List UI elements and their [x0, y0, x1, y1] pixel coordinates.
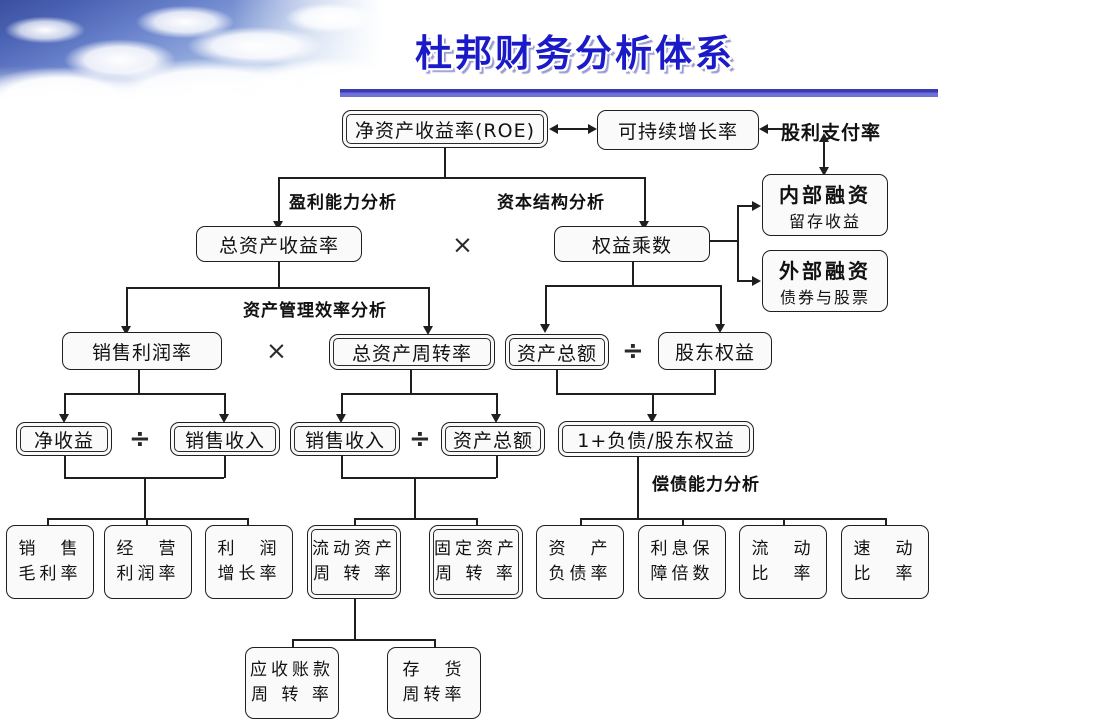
node-current-asset-turnover-line1: 流动资产 [312, 537, 396, 562]
node-equity-multiplier-label: 权益乘数 [592, 231, 672, 258]
sky-fade-overlay [0, 84, 402, 110]
node-roe[interactable]: 净资产收益率(ROE) [342, 110, 548, 148]
connector-bus-to-tat [428, 287, 430, 329]
connector-bus-to-total-assets [545, 285, 547, 327]
connector-payout-growth [766, 128, 783, 130]
operator-divide-assets-equity: ÷ [622, 336, 644, 366]
connector-debt-equity-down [637, 457, 639, 518]
node-gross-margin[interactable]: 销 售 毛利率 [6, 525, 94, 599]
node-debt-ratio-line2: 负债率 [549, 562, 612, 587]
node-sales-revenue-2-label: 销售收入 [305, 426, 385, 453]
operator-divide-net-income: ÷ [129, 424, 151, 454]
slide-canvas: 杜邦财务分析体系 净资产收益率(ROE) 可持续增长率 股利支付率 盈利能力分析… [0, 0, 1108, 726]
connector-total-assets2-down [496, 456, 498, 478]
node-total-assets-2[interactable]: 资产总额 [441, 422, 545, 456]
node-interest-coverage-line1: 利息保 [651, 537, 714, 562]
connector-tat-bus [341, 393, 496, 395]
node-debt-ratio[interactable]: 资 产 负债率 [536, 525, 624, 599]
node-total-assets-1-label: 资产总额 [517, 339, 597, 366]
node-interest-coverage-line2: 障倍数 [651, 562, 714, 587]
arrow-roe-left [549, 124, 558, 134]
arrow-to-total-assets [540, 324, 550, 333]
node-one-plus-debt-equity[interactable]: 1+负债/股东权益 [558, 421, 754, 457]
node-external-financing-title: 外部融资 [779, 255, 871, 284]
connector-total-assets1-down [556, 370, 558, 394]
connector-roa-down [278, 262, 280, 288]
node-gross-margin-line2: 毛利率 [19, 562, 82, 587]
connector-level2-bus [126, 287, 430, 289]
label-asset-management-analysis: 资产管理效率分析 [243, 296, 387, 321]
connector-bottom-bus-right [580, 518, 885, 520]
node-shareholders-equity[interactable]: 股东权益 [658, 332, 772, 370]
connector-npm-bus [64, 393, 224, 395]
node-inventory-turnover-line2: 周转率 [403, 683, 466, 708]
connector-turnover-merge-bus [341, 477, 496, 479]
node-external-financing-sub: 债券与股票 [780, 284, 870, 308]
node-total-assets-2-label: 资产总额 [453, 426, 533, 453]
node-equity-multiplier[interactable]: 权益乘数 [554, 226, 710, 262]
node-sustainable-growth[interactable]: 可持续增长率 [597, 110, 759, 150]
node-profit-growth-line2: 增长率 [218, 562, 281, 587]
node-profit-growth-line1: 利 润 [218, 537, 281, 562]
node-current-ratio-line2: 比 率 [752, 562, 815, 587]
node-quick-ratio-line1: 速 动 [854, 537, 917, 562]
node-external-financing[interactable]: 外部融资 债券与股票 [762, 250, 888, 312]
page-title: 杜邦财务分析体系 [415, 30, 875, 78]
node-current-ratio-line1: 流 动 [752, 537, 815, 562]
arrow-to-external-financing [752, 276, 761, 286]
node-sales-revenue-1[interactable]: 销售收入 [170, 422, 280, 456]
node-roa-label: 总资产收益率 [219, 231, 339, 258]
node-shareholders-equity-label: 股东权益 [675, 338, 755, 365]
connector-bus-to-em [644, 177, 646, 224]
node-operating-margin-line2: 利润率 [117, 562, 180, 587]
connector-equity-down [714, 370, 716, 394]
node-debt-ratio-line1: 资 产 [549, 537, 612, 562]
connector-npm-down [138, 370, 140, 394]
arrow-to-internal-financing [752, 201, 761, 211]
node-roe-label: 净资产收益率(ROE) [355, 116, 535, 143]
node-total-asset-turnover[interactable]: 总资产周转率 [329, 334, 495, 370]
connector-sales1-down [224, 456, 226, 478]
node-internal-financing-sub: 留存收益 [789, 208, 861, 232]
node-one-plus-debt-equity-label: 1+负债/股东权益 [577, 426, 734, 453]
connector-level1-bus [278, 177, 646, 179]
node-quick-ratio[interactable]: 速 动 比 率 [841, 525, 929, 599]
node-current-asset-turnover-line2: 周 转 率 [313, 562, 395, 587]
connector-tat-down [410, 370, 412, 394]
connector-em-down [632, 262, 634, 286]
arrow-payout-up [819, 133, 829, 142]
arrow-payout-to-growth [759, 124, 768, 134]
node-sustainable-growth-label: 可持续增长率 [618, 117, 738, 144]
connector-roe-growth [556, 128, 589, 130]
connector-financing-riser [737, 205, 739, 281]
connector-sales2-down [341, 456, 343, 478]
node-fixed-asset-turnover-line2: 周 转 率 [435, 562, 517, 587]
node-profit-growth[interactable]: 利 润 增长率 [205, 525, 293, 599]
connector-assets-equity-bus [545, 285, 721, 287]
connector-bottom-bus-mid [354, 518, 476, 520]
node-internal-financing-title: 内部融资 [779, 179, 871, 208]
node-ar-turnover[interactable]: 应收账款 周 转 率 [245, 647, 339, 719]
connector-current-asset-turnover-down [354, 599, 356, 640]
node-total-asset-turnover-label: 总资产周转率 [352, 339, 472, 366]
node-dividend-payout[interactable]: 股利支付率 [781, 118, 881, 145]
node-operating-margin[interactable]: 经 营 利润率 [104, 525, 192, 599]
node-sales-revenue-2[interactable]: 销售收入 [290, 422, 400, 456]
node-net-income[interactable]: 净收益 [16, 422, 112, 456]
node-fixed-asset-turnover[interactable]: 固定资产 周 转 率 [429, 525, 523, 599]
connector-turnover-merge-down [414, 477, 416, 519]
node-inventory-turnover[interactable]: 存 货 周转率 [387, 647, 481, 719]
node-ar-turnover-line2: 周 转 率 [251, 683, 333, 708]
node-net-income-label: 净收益 [34, 426, 94, 453]
connector-bus-to-npm [126, 287, 128, 329]
node-fixed-asset-turnover-line1: 固定资产 [434, 537, 518, 562]
connector-bus-to-roa [278, 177, 280, 224]
node-internal-financing[interactable]: 内部融资 留存收益 [762, 174, 888, 236]
connector-net-income-down [64, 456, 66, 478]
connector-em-out [710, 240, 738, 242]
label-profitability-analysis: 盈利能力分析 [289, 188, 397, 213]
operator-divide-sales-assets: ÷ [409, 424, 431, 454]
node-sales-revenue-1-label: 销售收入 [185, 426, 265, 453]
node-interest-coverage[interactable]: 利息保 障倍数 [638, 525, 726, 599]
node-quick-ratio-line2: 比 率 [854, 562, 917, 587]
connector-last-bus [292, 639, 434, 641]
node-operating-margin-line1: 经 营 [117, 537, 180, 562]
label-capital-structure-analysis: 资本结构分析 [497, 188, 605, 213]
connector-roe-down [444, 148, 446, 178]
node-roa[interactable]: 总资产收益率 [196, 226, 362, 262]
operator-multiply-mid: × [266, 336, 287, 365]
node-ar-turnover-line1: 应收账款 [250, 658, 334, 683]
node-total-assets-1[interactable]: 资产总额 [505, 334, 609, 370]
node-current-ratio[interactable]: 流 动 比 率 [739, 525, 827, 599]
node-current-asset-turnover[interactable]: 流动资产 周 转 率 [307, 525, 401, 599]
node-net-profit-margin[interactable]: 销售利润率 [62, 332, 222, 370]
node-inventory-turnover-line1: 存 货 [403, 658, 466, 683]
node-net-profit-margin-label: 销售利润率 [92, 338, 192, 365]
connector-margin-merge-down [144, 477, 146, 519]
connector-debt-equity-bus [556, 393, 716, 395]
label-solvency-analysis: 偿债能力分析 [652, 470, 760, 495]
arrow-growth-right [588, 124, 597, 134]
operator-multiply-top: × [452, 230, 473, 259]
connector-bus-to-equity [720, 285, 722, 327]
title-underline-rule [340, 89, 938, 97]
node-gross-margin-line1: 销 售 [19, 537, 82, 562]
